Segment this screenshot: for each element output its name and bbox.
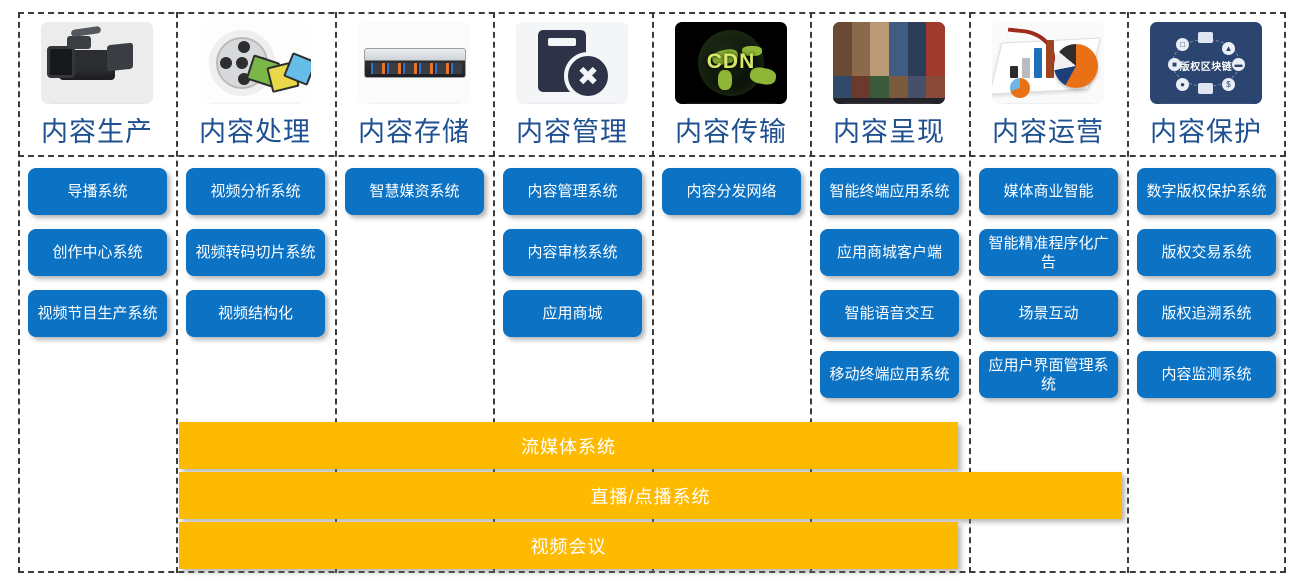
item-smart-programmatic-advertising[interactable]: 智能精准程序化广告 bbox=[979, 229, 1118, 276]
cross-bar-streaming-system[interactable]: 流媒体系统 bbox=[179, 422, 958, 469]
item-video-transcoding-slicing-system[interactable]: 视频转码切片系统 bbox=[186, 229, 325, 276]
item-creation-center-system[interactable]: 创作中心系统 bbox=[28, 229, 167, 276]
column-header-content-operation: 内容运营 bbox=[969, 12, 1127, 155]
analytics-chart-icon bbox=[992, 22, 1104, 104]
column-header-content-presentation: 内容呈现 bbox=[810, 12, 968, 155]
column-header-content-storage: 内容存储 bbox=[335, 12, 493, 155]
item-daobo-system[interactable]: 导播系统 bbox=[28, 168, 167, 215]
column-header-content-management: ✖ 内容管理 bbox=[493, 12, 651, 155]
item-video-structuring[interactable]: 视频结构化 bbox=[186, 290, 325, 337]
column-header-content-transmission: CDN 内容传输 bbox=[652, 12, 810, 155]
item-mobile-terminal-app-system[interactable]: 移动终端应用系统 bbox=[820, 351, 959, 398]
item-copyright-trading-system[interactable]: 版权交易系统 bbox=[1137, 229, 1276, 276]
column-title: 内容运营 bbox=[992, 117, 1104, 147]
column-title: 内容处理 bbox=[199, 117, 311, 147]
item-app-ui-management-system[interactable]: 应用户界面管理系统 bbox=[979, 351, 1118, 398]
tv-screen-icon bbox=[833, 22, 945, 104]
video-camera-icon bbox=[41, 22, 153, 104]
cross-bar-live-vod-system[interactable]: 直播/点播系统 bbox=[179, 472, 1122, 519]
column-header-content-production: 内容生产 bbox=[18, 12, 176, 155]
item-app-store-client[interactable]: 应用商城客户端 bbox=[820, 229, 959, 276]
server-rack-icon bbox=[358, 22, 470, 104]
document-block-icon: ✖ bbox=[516, 22, 628, 104]
architecture-diagram: 内容生产 导播系统 创作中心系统 视频节目生产系统 内容处理 视频分析系统 视频… bbox=[0, 0, 1294, 581]
column-header-content-protection: □ ▲ ■ ▬ ● $ 版权区块链 内容保护 bbox=[1127, 12, 1285, 155]
item-media-business-intelligence[interactable]: 媒体商业智能 bbox=[979, 168, 1118, 215]
item-digital-rights-protection-system[interactable]: 数字版权保护系统 bbox=[1137, 168, 1276, 215]
column-title: 内容保护 bbox=[1150, 117, 1262, 147]
item-content-delivery-network[interactable]: 内容分发网络 bbox=[662, 168, 801, 215]
header-divider-line bbox=[18, 155, 1286, 157]
item-video-analysis-system[interactable]: 视频分析系统 bbox=[186, 168, 325, 215]
blockchain-icon-label: 版权区块链 bbox=[1150, 58, 1262, 73]
column-header-content-processing: 内容处理 bbox=[176, 12, 334, 155]
item-app-store[interactable]: 应用商城 bbox=[503, 290, 642, 337]
item-smart-media-asset-system[interactable]: 智慧媒资系统 bbox=[345, 168, 484, 215]
column-title: 内容生产 bbox=[41, 117, 153, 147]
item-video-program-production-system[interactable]: 视频节目生产系统 bbox=[28, 290, 167, 337]
column-title: 内容管理 bbox=[516, 117, 628, 147]
item-copyright-tracing-system[interactable]: 版权追溯系统 bbox=[1137, 290, 1276, 337]
item-content-monitoring-system[interactable]: 内容监测系统 bbox=[1137, 351, 1276, 398]
item-smart-voice-interaction[interactable]: 智能语音交互 bbox=[820, 290, 959, 337]
column-title: 内容呈现 bbox=[833, 117, 945, 147]
column-title: 内容传输 bbox=[675, 117, 787, 147]
cdn-icon-label: CDN bbox=[675, 50, 787, 74]
item-scene-interaction[interactable]: 场景互动 bbox=[979, 290, 1118, 337]
film-reel-icon bbox=[199, 22, 311, 104]
item-content-review-system[interactable]: 内容审核系统 bbox=[503, 229, 642, 276]
item-content-management-system[interactable]: 内容管理系统 bbox=[503, 168, 642, 215]
item-smart-terminal-app-system[interactable]: 智能终端应用系统 bbox=[820, 168, 959, 215]
cdn-globe-icon: CDN bbox=[675, 22, 787, 104]
column-title: 内容存储 bbox=[358, 117, 470, 147]
cross-bar-video-conference[interactable]: 视频会议 bbox=[179, 522, 958, 569]
copyright-blockchain-icon: □ ▲ ■ ▬ ● $ 版权区块链 bbox=[1150, 22, 1262, 104]
